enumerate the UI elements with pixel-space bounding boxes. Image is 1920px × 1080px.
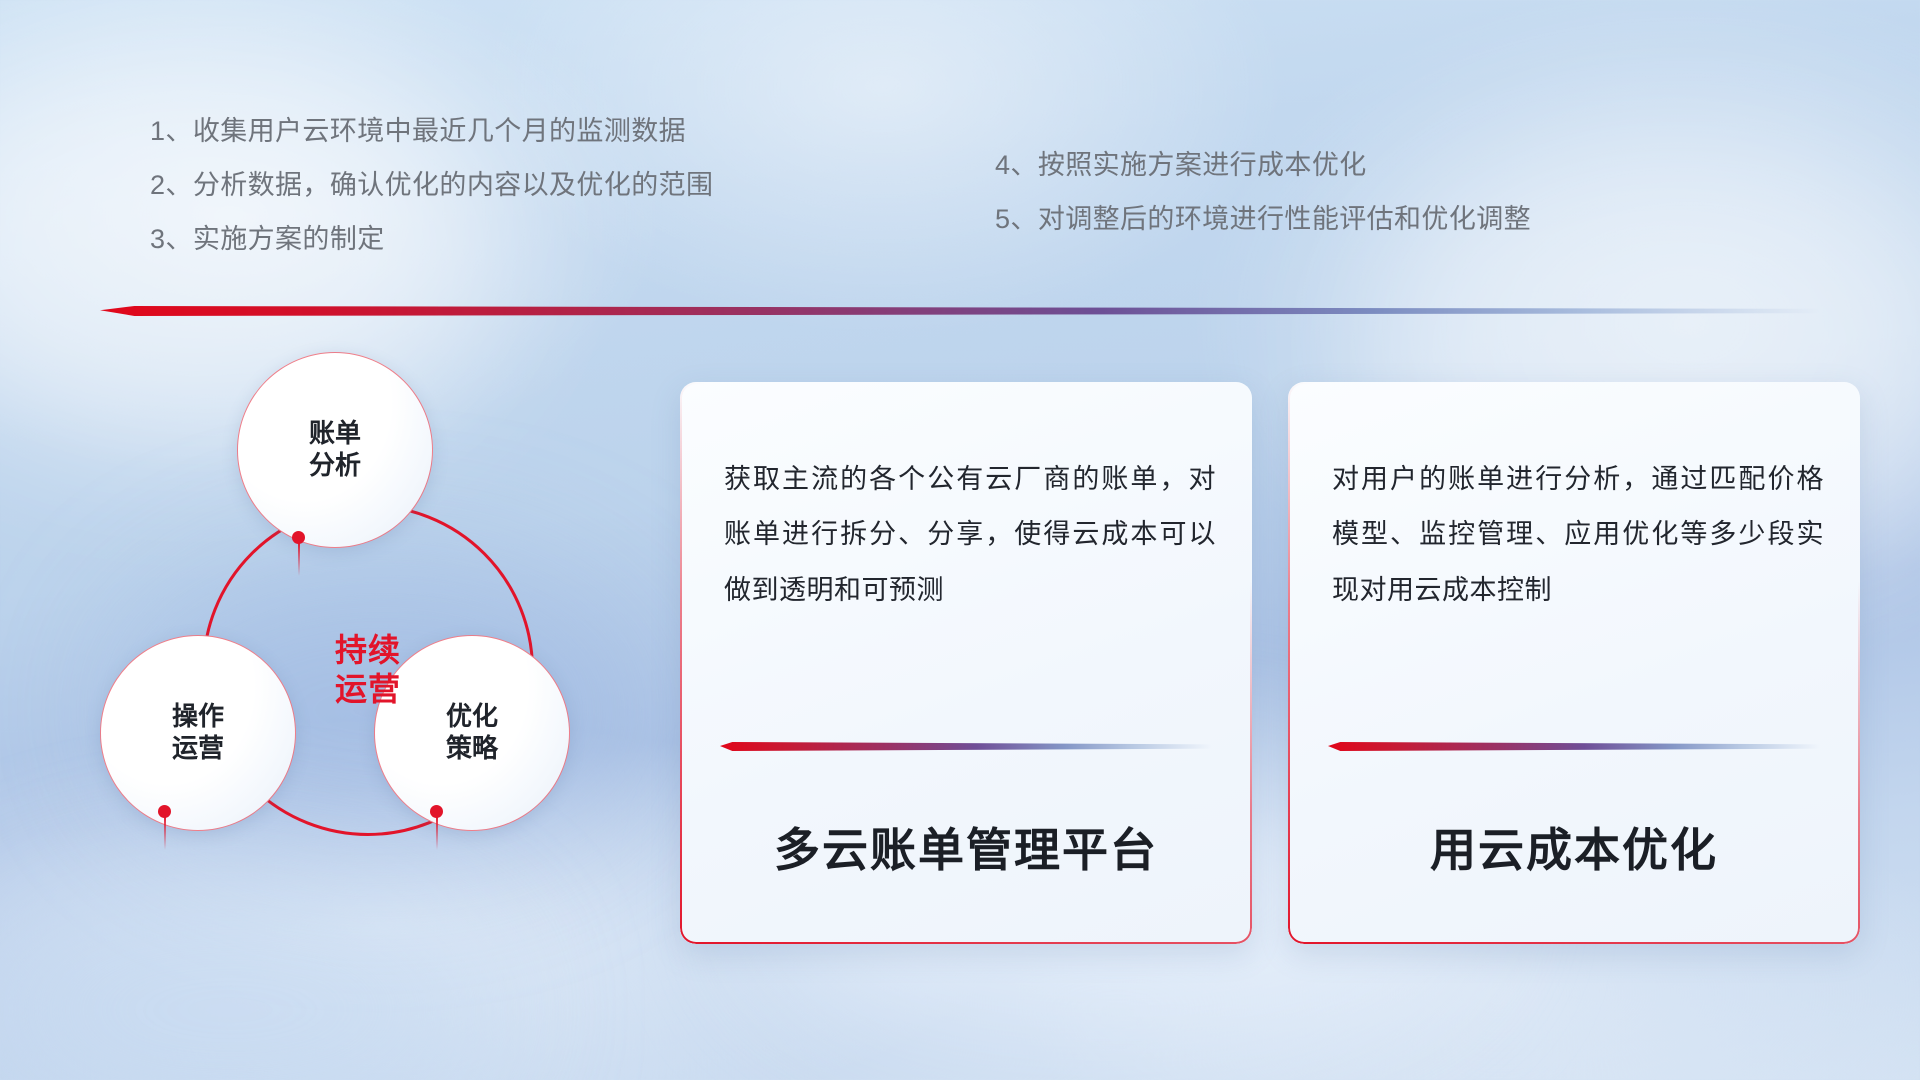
card-divider bbox=[720, 742, 1212, 751]
slide-root: { "theme": { "accent_red": "#e2142a", "a… bbox=[0, 0, 1920, 1080]
bubble-label: 账单分析 bbox=[309, 418, 361, 481]
card-body-text: 对用户的账单进行分析，通过匹配价格模型、监控管理、应用优化等多少段实现对用云成本… bbox=[1332, 452, 1824, 618]
diagram-connector-stem bbox=[298, 542, 300, 576]
section-divider-bar bbox=[100, 306, 1820, 316]
card-title: 多云账单管理平台 bbox=[680, 814, 1252, 880]
diagram-node-dot bbox=[158, 805, 171, 818]
steps-right-column: 4、按照实施方案进行成本优化 5、对调整后的环境进行性能评估和优化调整 bbox=[995, 152, 1531, 233]
diagram-node-dot bbox=[430, 805, 443, 818]
step-item-2: 2、分析数据，确认优化的内容以及优化的范围 bbox=[150, 172, 713, 199]
feature-card-cloud-cost-optimization[interactable]: 对用户的账单进行分析，通过匹配价格模型、监控管理、应用优化等多少段实现对用云成本… bbox=[1288, 382, 1860, 944]
steps-left-column: 1、收集用户云环境中最近几个月的监测数据 2、分析数据，确认优化的内容以及优化的… bbox=[150, 118, 713, 253]
section-divider bbox=[100, 306, 1820, 316]
center-label-text: 持续运营 bbox=[335, 631, 401, 709]
diagram-connector-stem bbox=[164, 816, 166, 850]
step-item-5: 5、对调整后的环境进行性能评估和优化调整 bbox=[995, 206, 1531, 233]
card-body-text: 获取主流的各个公有云厂商的账单，对账单进行拆分、分享，使得云成本可以做到透明和可… bbox=[724, 452, 1216, 618]
card-title: 用云成本优化 bbox=[1288, 814, 1860, 880]
card-divider-bar bbox=[720, 742, 1212, 751]
card-divider bbox=[1328, 742, 1820, 751]
diagram-center-label: 持续运营 bbox=[202, 504, 534, 836]
diagram-connector-stem bbox=[436, 816, 438, 850]
continuous-operation-diagram: 账单分析 操作运营 优化策略 持续运营 bbox=[100, 352, 640, 942]
diagram-node-dot bbox=[292, 531, 305, 544]
feature-card-multicloud-billing[interactable]: 获取主流的各个公有云厂商的账单，对账单进行拆分、分享，使得云成本可以做到透明和可… bbox=[680, 382, 1252, 944]
step-item-4: 4、按照实施方案进行成本优化 bbox=[995, 152, 1531, 179]
step-item-1: 1、收集用户云环境中最近几个月的监测数据 bbox=[150, 118, 713, 145]
card-divider-bar bbox=[1328, 742, 1820, 751]
step-item-3: 3、实施方案的制定 bbox=[150, 226, 713, 253]
